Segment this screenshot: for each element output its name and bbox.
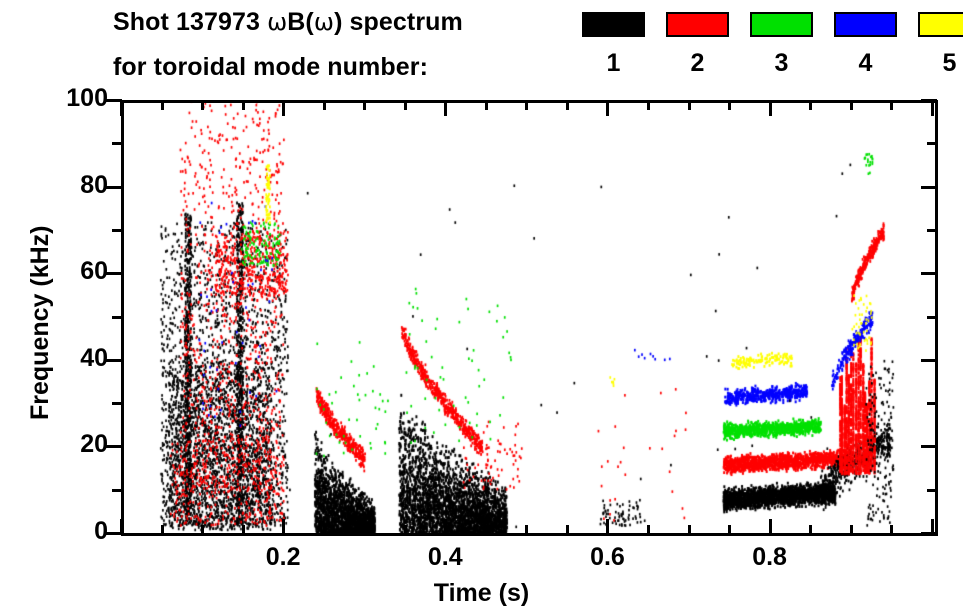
y-tick-minor-70 xyxy=(112,229,122,232)
x-tick-minor-0.45 xyxy=(485,525,488,535)
x-tick-top-0.15 xyxy=(242,100,245,110)
legend-label-n4: 4 xyxy=(834,51,897,76)
x-tick-minor-0.95 xyxy=(890,525,893,535)
y-tick-label-60: 60 xyxy=(80,259,108,284)
x-tick-major-0.40 xyxy=(444,519,447,535)
x-axis-title: Time (s) xyxy=(0,579,963,608)
x-tick-top-0.10 xyxy=(201,100,204,110)
x-tick-top-0.45 xyxy=(485,100,488,110)
x-tick-label-0.6: 0.6 xyxy=(567,545,647,570)
y-tick-minor-90 xyxy=(112,142,122,145)
y-tick-major-20 xyxy=(106,445,122,448)
y-tick-major-40 xyxy=(106,359,122,362)
x-tick-top-0.65 xyxy=(647,100,650,110)
x-tick-top-0.25 xyxy=(323,100,326,110)
x-tick-minor-0.50 xyxy=(525,525,528,535)
y-tick-major-80 xyxy=(106,186,122,189)
x-tick-top-0.70 xyxy=(688,100,691,110)
x-tick-top-0.30 xyxy=(363,100,366,110)
legend-item-n3[interactable]: 3 xyxy=(750,12,813,76)
x-tick-top-0.55 xyxy=(566,100,569,110)
y-tick-label-0: 0 xyxy=(94,519,108,544)
y-tick-right-10 xyxy=(927,489,937,492)
x-tick-top-0.90 xyxy=(850,100,853,110)
x-tick-minor-0.85 xyxy=(809,525,812,535)
plot-area xyxy=(121,100,935,533)
y-tick-right-30 xyxy=(927,402,937,405)
x-tick-top-0.75 xyxy=(728,100,731,110)
omega-symbol-1: ω xyxy=(267,8,287,36)
y-tick-right-100 xyxy=(921,99,937,102)
x-tick-top-0.35 xyxy=(404,100,407,110)
x-tick-minor-0.05 xyxy=(161,525,164,535)
x-tick-top-0.50 xyxy=(525,100,528,110)
x-tick-top-0.60 xyxy=(606,100,609,116)
x-tick-minor-0.15 xyxy=(242,525,245,535)
x-tick-minor-0.65 xyxy=(647,525,650,535)
x-tick-top-0.05 xyxy=(161,100,164,110)
title-b-text: B( xyxy=(287,8,314,36)
legend-swatch-n2 xyxy=(666,12,729,37)
y-tick-right-40 xyxy=(921,359,937,362)
legend-item-n4[interactable]: 4 xyxy=(834,12,897,76)
x-tick-top-0.85 xyxy=(809,100,812,110)
x-tick-major-1.00 xyxy=(931,519,934,535)
x-tick-major-0.00 xyxy=(120,519,123,535)
title-shot-text: Shot 137973 xyxy=(113,8,267,36)
y-tick-major-60 xyxy=(106,272,122,275)
x-axis-tick-labels: 0.20.40.60.8 xyxy=(121,545,941,579)
legend-label-n2: 2 xyxy=(666,51,729,76)
y-axis-tick-labels: 020406080100 xyxy=(8,100,108,533)
legend-swatch-n5 xyxy=(918,12,963,37)
legend-swatch-n1 xyxy=(582,12,645,37)
legend-label-n1: 1 xyxy=(582,51,645,76)
x-tick-top-0.80 xyxy=(769,100,772,116)
x-tick-major-0.80 xyxy=(769,519,772,535)
x-tick-top-0.20 xyxy=(282,100,285,116)
legend-item-n1[interactable]: 1 xyxy=(582,12,645,76)
y-tick-right-80 xyxy=(921,186,937,189)
x-tick-top-0.40 xyxy=(444,100,447,116)
x-tick-top-1.00 xyxy=(931,100,934,116)
x-tick-label-0.2: 0.2 xyxy=(243,545,323,570)
x-tick-label-0.4: 0.4 xyxy=(405,545,485,570)
x-tick-minor-0.25 xyxy=(323,525,326,535)
x-tick-minor-0.30 xyxy=(363,525,366,535)
legend-label-n5: 5 xyxy=(918,51,963,76)
x-tick-major-0.60 xyxy=(606,519,609,535)
x-tick-minor-0.70 xyxy=(688,525,691,535)
y-tick-label-20: 20 xyxy=(80,432,108,457)
legend-swatch-n4 xyxy=(834,12,897,37)
x-tick-label-0.8: 0.8 xyxy=(730,545,810,570)
y-tick-right-60 xyxy=(921,272,937,275)
y-tick-right-90 xyxy=(927,142,937,145)
legend-item-n5[interactable]: 5 xyxy=(918,12,963,76)
y-tick-label-40: 40 xyxy=(80,346,108,371)
x-tick-minor-0.10 xyxy=(201,525,204,535)
legend-swatch-n3 xyxy=(750,12,813,37)
x-tick-top-0.95 xyxy=(890,100,893,110)
y-tick-label-100: 100 xyxy=(66,86,108,111)
legend-label-n3: 3 xyxy=(750,51,813,76)
y-axis-title: Frequency (kHz) xyxy=(26,226,55,420)
y-tick-minor-10 xyxy=(112,489,122,492)
x-tick-minor-0.75 xyxy=(728,525,731,535)
y-tick-right-70 xyxy=(927,229,937,232)
y-tick-right-20 xyxy=(921,445,937,448)
page-subtitle: for toroidal mode number: xyxy=(113,53,428,82)
x-tick-minor-0.35 xyxy=(404,525,407,535)
x-tick-minor-0.90 xyxy=(850,525,853,535)
omega-symbol-2: ω xyxy=(314,8,334,36)
y-tick-label-80: 80 xyxy=(80,173,108,198)
y-tick-right-0 xyxy=(921,532,937,535)
legend: 12345 xyxy=(582,12,942,92)
page-title: Shot 137973 ωB(ω) spectrum xyxy=(113,8,463,37)
spectrogram-canvas xyxy=(121,100,935,533)
x-tick-major-0.20 xyxy=(282,519,285,535)
legend-item-n2[interactable]: 2 xyxy=(666,12,729,76)
title-spectrum-text: ) spectrum xyxy=(334,8,463,36)
y-tick-minor-30 xyxy=(112,402,122,405)
spectrogram-figure: Shot 137973 ωB(ω) spectrum for toroidal … xyxy=(0,0,963,615)
y-tick-right-50 xyxy=(927,316,937,319)
x-tick-minor-0.55 xyxy=(566,525,569,535)
x-tick-top-0.00 xyxy=(120,100,123,116)
y-tick-minor-50 xyxy=(112,316,122,319)
